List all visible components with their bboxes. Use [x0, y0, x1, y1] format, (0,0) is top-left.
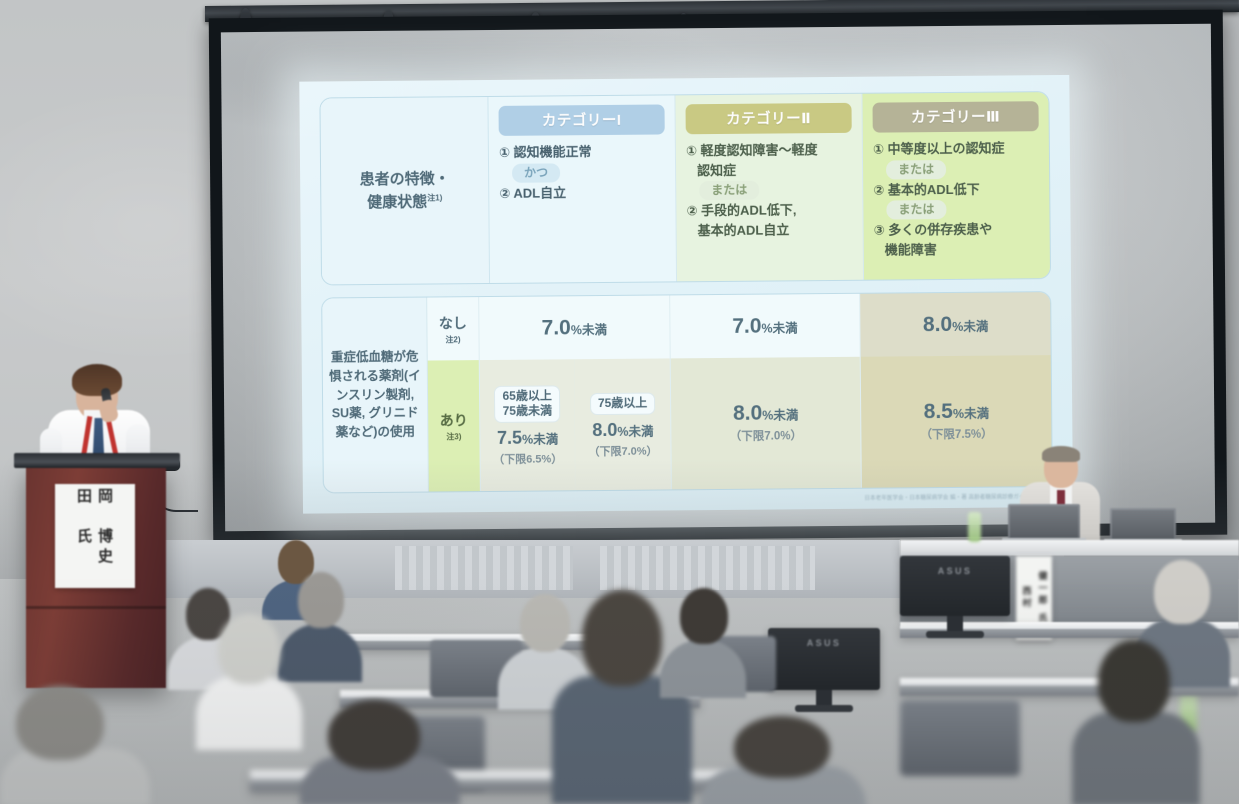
hba1c-yes-cat1-65-value: 7.5 [497, 428, 522, 448]
category-3-conjunction-pill-1: または [886, 160, 946, 180]
audience-person [660, 588, 746, 694]
drug-use-yes-text: あり [440, 410, 468, 430]
drug-use-none-label: なし 注2) [426, 297, 479, 361]
category-1-header: カテゴリーI [499, 104, 665, 135]
hba1c-none-cat1-value: 7.0 [542, 316, 571, 339]
category-2-header: カテゴリーⅡ [685, 103, 851, 134]
hba1c-yes-cat3-unit: %未満 [953, 407, 989, 421]
laptop-right [1110, 508, 1176, 541]
category-1-column: カテゴリーI ① 認知機能正常 かつ ② ADL自立 [488, 95, 677, 283]
hba1c-yes-cat2-value: 8.0 [733, 402, 762, 425]
monitor-right: ASUS [900, 556, 1010, 616]
category-2-body: ① 軽度認知障害～軽度 認知症 または ② 手段的ADL低下, 基本的ADL自立 [686, 140, 853, 240]
audience-head [328, 700, 420, 770]
category-2-line-2-cont: 基本的ADL自立 [687, 219, 853, 240]
audience-head [734, 716, 830, 778]
audience-person [700, 716, 866, 804]
patient-characteristics-row-label: 患者の特徴・ 健康状態注1) [320, 97, 490, 284]
audience-head [218, 614, 280, 684]
category-3-conjunction-pill-2: または [886, 200, 946, 220]
hba1c-yes-cat3-value: 8.5 [924, 400, 953, 423]
audience-torso [660, 640, 746, 698]
curtain-right [600, 546, 815, 590]
audience-head [1098, 640, 1170, 722]
category-3-column: カテゴリーⅢ ① 中等度以上の認知症 または ② 基本的ADL低下 または ③ … [862, 92, 1050, 280]
hba1c-none-cat2: 7.0%未満 [669, 294, 860, 359]
category-1-conjunction-pill: かつ [512, 163, 560, 182]
age-range-badge-65-74: 65歳以上 75歳未満 [494, 386, 560, 424]
audience-person [196, 614, 302, 746]
laptop-left [1008, 504, 1080, 540]
podium-nameplate: 岡田 博史 氏 [55, 484, 135, 588]
category-3-header: カテゴリーⅢ [872, 101, 1038, 132]
audience-head [680, 588, 728, 644]
water-bottle-front [968, 512, 981, 542]
projected-slide: 患者の特徴・ 健康状態注1) カテゴリーI ① 認知機能正常 かつ ② ADL自… [299, 75, 1073, 514]
age-range-75-line1: 75歳以上 [598, 395, 647, 410]
monitor-foot [795, 705, 853, 712]
category-3-line-3-cont: 機能障害 [874, 239, 1040, 260]
hba1c-yes-cat1-75-lower: （下限7.0%） [588, 442, 657, 459]
hba1c-yes-cat1-75-value: 8.0 [592, 420, 617, 440]
category-3-line-1: ① 中等度以上の認知症 [873, 138, 1039, 159]
podium: 岡田 博史 氏 [26, 466, 166, 688]
hba1c-none-cat3-value: 8.0 [923, 313, 952, 336]
row-label-line1: 患者の特徴・ [360, 170, 450, 188]
audience-head [1154, 560, 1210, 624]
hba1c-yes-cat2-unit: %未満 [762, 408, 798, 422]
row-label-note: 注1) [427, 193, 442, 202]
category-1-body: ① 認知機能正常 かつ ② ADL自立 [499, 141, 666, 202]
patient-characteristics-table: 患者の特徴・ 健康状態注1) カテゴリーI ① 認知機能正常 かつ ② ADL自… [319, 91, 1051, 285]
drug-use-none-text: なし [439, 313, 467, 333]
monitor-foot [926, 631, 984, 638]
front-desk-nameplate-givenname: 健一郎 氏 [1036, 571, 1049, 625]
category-1-line-2: ② ADL自立 [499, 182, 665, 203]
laptop-right-lid [1112, 510, 1174, 539]
laptop-left-lid [1010, 506, 1078, 538]
audience-person [0, 686, 150, 804]
category-3-line-2: ② 基本的ADL低下 [873, 179, 1039, 200]
lecture-hall-photo: 患者の特徴・ 健康状態注1) カテゴリーI ① 認知機能正常 かつ ② ADL自… [0, 0, 1239, 804]
podium-nameplate-givenname: 博史 氏 [74, 528, 116, 588]
age-range-line2: 75歳未満 [503, 404, 552, 419]
hba1c-none-cat3: 8.0%未満 [859, 292, 1050, 357]
audience-torso [196, 676, 302, 750]
hba1c-none-cat1-unit: %未満 [571, 323, 607, 337]
chair-back-4 [900, 700, 1020, 776]
hba1c-none-cat3-unit: %未満 [952, 319, 988, 333]
audience-head [16, 686, 104, 760]
hba1c-none-cat2-value: 7.0 [732, 314, 761, 337]
category-2-line-2: ② 手段的ADL低下, [686, 200, 852, 221]
audience-person [300, 700, 460, 804]
hba1c-none-cat1: 7.0%未満 [478, 295, 669, 360]
audience-head [582, 590, 662, 686]
curtain-left [395, 546, 573, 590]
drug-use-none-note: 注2) [445, 334, 460, 345]
podium-shelf [26, 606, 166, 609]
hba1c-yes-cat1-65-unit: %未満 [522, 433, 558, 447]
monitor-brand-label: ASUS [900, 566, 1010, 576]
age-range-line1: 65歳以上 [502, 389, 551, 404]
audience-torso [1072, 712, 1200, 804]
category-2-conjunction-pill: または [699, 181, 759, 201]
category-2-line-1-cont: 認知症 [686, 159, 852, 180]
category-3-line-3: ③ 多くの併存疾患や [874, 219, 1040, 240]
moderator-hair [1042, 446, 1080, 462]
hba1c-yes-cat2-lower: （下限7.0%） [730, 427, 802, 444]
audience-person [1072, 640, 1200, 804]
category-2-line-1: ① 軽度認知障害～軽度 [686, 140, 852, 161]
category-1-line-1: ① 認知機能正常 [499, 141, 665, 162]
front-desk [900, 540, 1239, 556]
hba1c-none-cat2-unit: %未満 [761, 321, 797, 335]
table-row: なし 注2) 7.0%未満 7.0%未満 8.0%未満 [426, 292, 1051, 361]
front-desk-nameplate-surname: 西村 [1020, 586, 1033, 610]
hba1c-yes-cat1-75-unit: %未満 [617, 424, 653, 438]
age-range-badge-75plus: 75歳以上 [590, 392, 656, 415]
hba1c-yes-cat3-lower: （下限7.5%） [920, 426, 992, 443]
audience-head [298, 572, 344, 628]
speaker-hair [72, 364, 122, 396]
monitor-brand-label: ASUS [768, 638, 880, 648]
podium-top-surface [14, 453, 180, 468]
podium-nameplate-surname: 岡田 [74, 488, 116, 522]
row-label-line2: 健康状態 [367, 194, 427, 212]
category-2-column: カテゴリーⅡ ① 軽度認知障害～軽度 認知症 または ② 手段的ADL低下, 基… [675, 94, 864, 282]
category-3-body: ① 中等度以上の認知症 または ② 基本的ADL低下 または ③ 多くの併存疾患… [873, 138, 1040, 259]
monitor-center: ASUS [768, 628, 880, 690]
drug-use-yes-note: 注3) [446, 431, 461, 442]
